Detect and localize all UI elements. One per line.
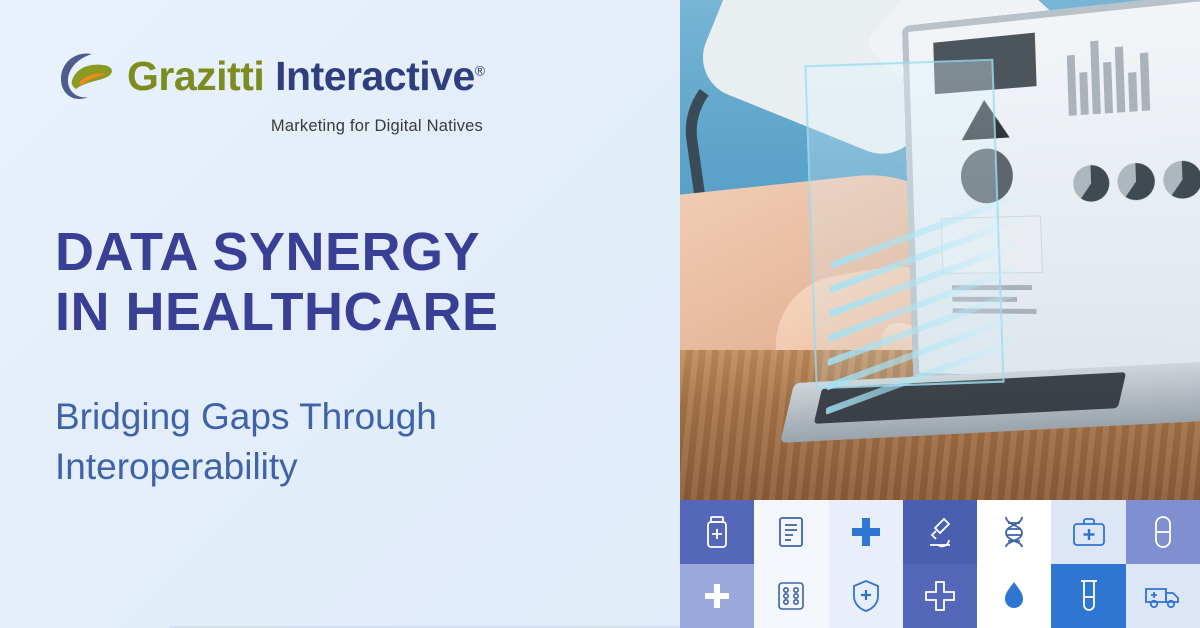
- registered-mark: ®: [475, 62, 485, 78]
- dashboard-bar: [1128, 72, 1138, 112]
- page-title: DATA SYNERGY IN HEALTHCARE: [55, 222, 655, 343]
- logo-row: Grazitti Interactive®: [55, 45, 485, 107]
- dashboard-bar: [1079, 72, 1088, 115]
- logo-word-grazitti: Grazitti: [127, 53, 264, 99]
- capsule-pill-icon: [1126, 500, 1200, 564]
- dashboard-donut-chart: [1163, 160, 1200, 199]
- dashboard-bar: [1140, 52, 1150, 111]
- dna-helix-icon: [977, 500, 1051, 564]
- plus-sign-icon: [680, 564, 754, 628]
- subheadline-line-1: Bridging Gaps Through: [55, 392, 655, 442]
- logo-wordmark: Grazitti Interactive®: [127, 56, 485, 97]
- dashboard-donut-chart: [1073, 164, 1110, 202]
- left-content-panel: Grazitti Interactive® Marketing for Digi…: [0, 0, 680, 628]
- pill-blister-pack-icon: [754, 564, 828, 628]
- swoosh-leaf-logo-icon: [55, 45, 117, 107]
- healthcare-icon-strip: [680, 500, 1200, 628]
- headline-line-2: IN HEALTHCARE: [55, 282, 655, 342]
- brand-tagline: Marketing for Digital Natives: [55, 117, 485, 136]
- healthcare-photo: [680, 0, 1200, 500]
- logo-word-interactive: Interactive: [275, 53, 475, 99]
- right-image-panel: [680, 0, 1200, 628]
- dashboard-bar: [1115, 46, 1125, 112]
- blood-drop-icon: [977, 564, 1051, 628]
- dashboard-donut-chart: [1117, 162, 1156, 201]
- subheadline-line-2: Interoperability: [55, 442, 655, 492]
- promo-banner: Grazitti Interactive® Marketing for Digi…: [0, 0, 1200, 628]
- test-tube-icon: [1051, 564, 1125, 628]
- first-aid-kit-icon: [1051, 500, 1125, 564]
- dashboard-bar: [1090, 41, 1101, 115]
- brand-logo[interactable]: Grazitti Interactive® Marketing for Digi…: [55, 45, 485, 136]
- shield-cross-icon: [829, 564, 903, 628]
- dashboard-bar: [1067, 55, 1077, 116]
- clipboard-record-icon: [754, 500, 828, 564]
- ambulance-icon: [1126, 564, 1200, 628]
- medical-cross-icon: [829, 500, 903, 564]
- medicine-bottle-icon: [680, 500, 754, 564]
- medical-plus-badge-icon: [903, 564, 977, 628]
- microscope-icon: [903, 500, 977, 564]
- headline-line-1: DATA SYNERGY: [55, 222, 655, 282]
- dashboard-bar: [1103, 62, 1113, 114]
- page-subtitle: Bridging Gaps Through Interoperability: [55, 392, 655, 492]
